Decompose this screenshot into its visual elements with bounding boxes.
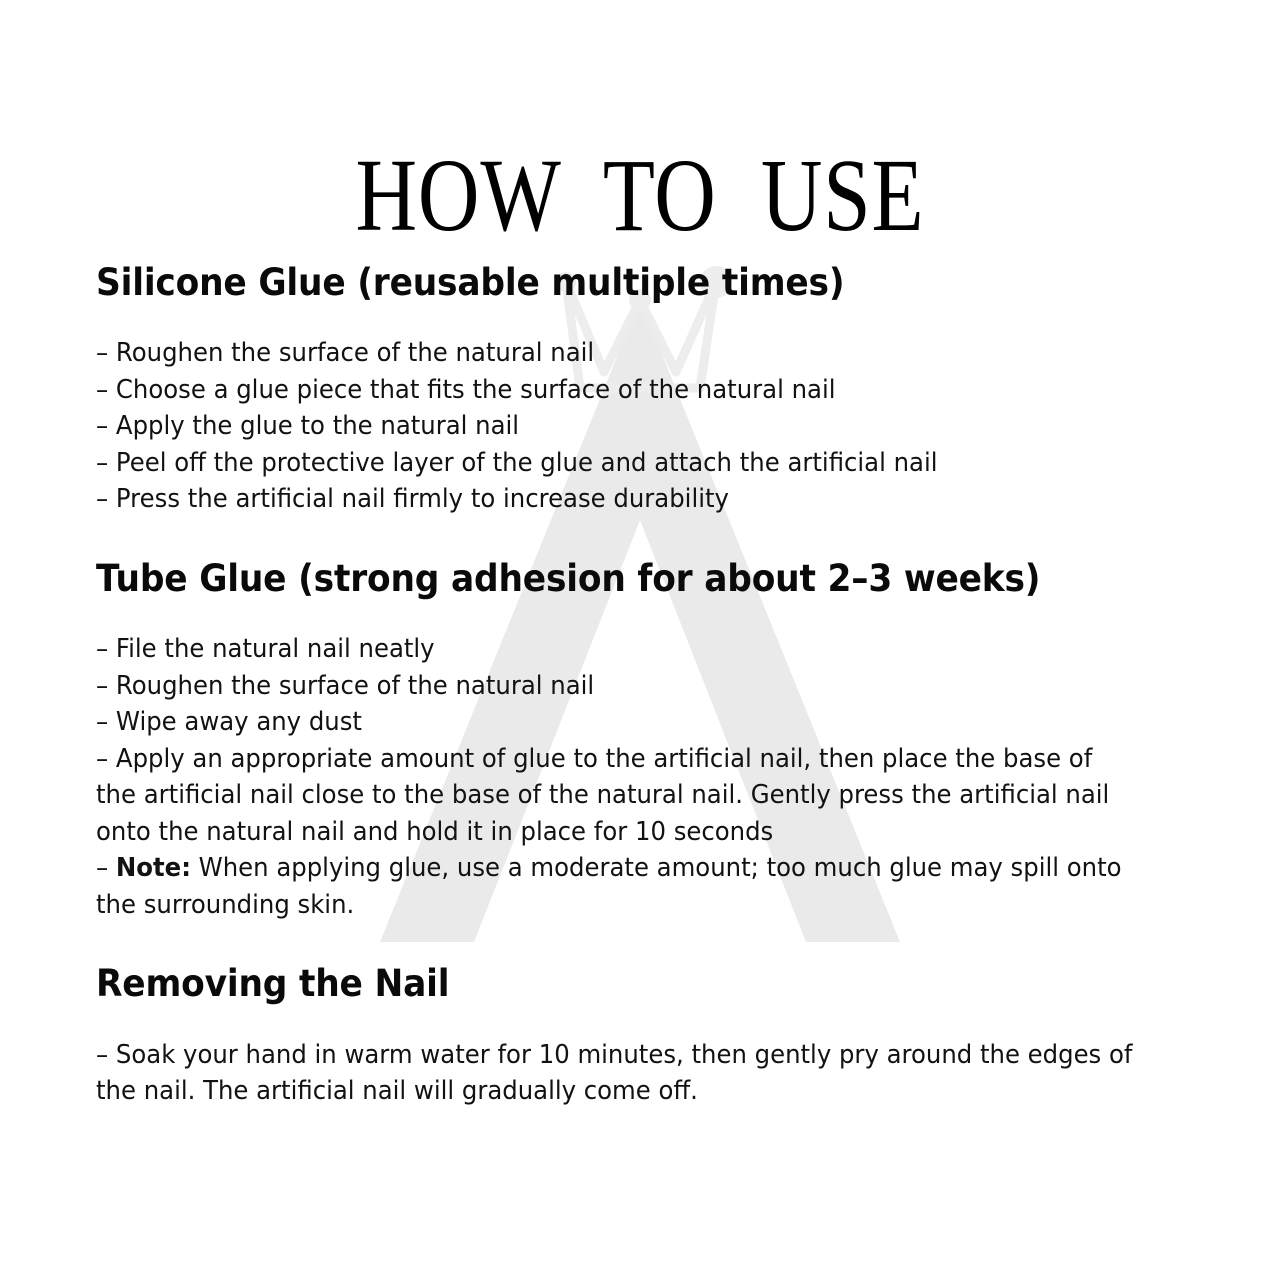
- section-heading-tube-glue: Tube Glue (strong adhesion for about 2–3…: [96, 558, 1112, 599]
- list-tube-glue: – File the natural nail neatly – Roughen…: [96, 631, 1188, 923]
- list-item-note: – Note: When applying glue, use a modera…: [96, 850, 1139, 923]
- list-removing-the-nail: – Soak your hand in warm water for 10 mi…: [96, 1037, 1188, 1110]
- section-silicone-glue: Silicone Glue (reusable multiple times) …: [96, 262, 1188, 518]
- list-item: – File the natural nail neatly: [96, 631, 1139, 668]
- list-item: – Apply the glue to the natural nail: [96, 408, 1139, 445]
- page-title: HOW TO USE: [115, 144, 1165, 248]
- list-item: – Apply an appropriate amount of glue to…: [96, 741, 1139, 851]
- how-to-use-page: HOW TO USE Silicone Glue (reusable multi…: [0, 0, 1280, 1280]
- list-item: – Press the artificial nail firmly to in…: [96, 481, 1139, 518]
- list-item: – Roughen the surface of the natural nai…: [96, 668, 1139, 705]
- list-item: – Soak your hand in warm water for 10 mi…: [96, 1037, 1139, 1110]
- note-label: Note:: [116, 853, 191, 883]
- list-item: – Roughen the surface of the natural nai…: [96, 335, 1139, 372]
- section-heading-silicone-glue: Silicone Glue (reusable multiple times): [96, 262, 1112, 303]
- note-dash: –: [96, 853, 116, 883]
- section-tube-glue: Tube Glue (strong adhesion for about 2–3…: [96, 558, 1188, 923]
- instructions-body: Silicone Glue (reusable multiple times) …: [96, 262, 1188, 1110]
- list-item: – Choose a glue piece that fits the surf…: [96, 372, 1139, 409]
- section-heading-removing-the-nail: Removing the Nail: [96, 963, 1112, 1004]
- list-item: – Peel off the protective layer of the g…: [96, 445, 1139, 482]
- list-item: – Wipe away any dust: [96, 704, 1139, 741]
- note-text: When applying glue, use a moderate amoun…: [96, 853, 1122, 920]
- section-removing-the-nail: Removing the Nail – Soak your hand in wa…: [96, 963, 1188, 1109]
- list-silicone-glue: – Roughen the surface of the natural nai…: [96, 335, 1188, 518]
